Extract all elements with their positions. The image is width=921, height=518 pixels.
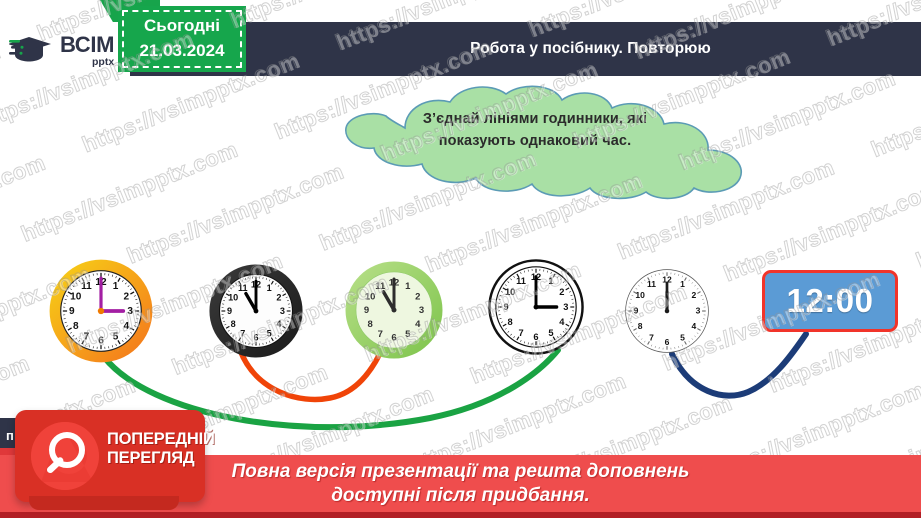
purchase-banner-line-2: доступні після придбання. <box>232 484 690 508</box>
svg-text:8: 8 <box>638 321 643 331</box>
preview-overlay-text: ПОПЕРЕДНІЙ ПЕРЕГЛЯД <box>107 430 201 468</box>
svg-text:6: 6 <box>391 333 396 344</box>
svg-text:10: 10 <box>635 290 645 300</box>
today-label: Сьогодні <box>144 14 220 39</box>
slide-canvas: https://vsimpptx.comhttps://vsimpptx.com… <box>0 0 921 518</box>
svg-text:7: 7 <box>84 331 90 342</box>
svg-text:5: 5 <box>680 333 685 343</box>
svg-text:9: 9 <box>69 306 75 317</box>
svg-text:4: 4 <box>692 321 697 331</box>
preview-line-2: ПЕРЕГЛЯД <box>107 449 201 468</box>
svg-text:4: 4 <box>123 321 129 332</box>
svg-text:6: 6 <box>533 332 538 342</box>
brand-logo: ВСІМ pptx <box>0 22 130 79</box>
clock-green: 123456789101112 <box>344 260 444 360</box>
bottom-accent-bar <box>0 512 921 518</box>
svg-text:8: 8 <box>368 319 373 330</box>
svg-text:9: 9 <box>634 306 639 316</box>
clock-black-thick: 123456789101112 <box>208 263 304 359</box>
svg-text:1: 1 <box>113 281 119 292</box>
svg-text:10: 10 <box>228 293 238 303</box>
today-date-badge: Сьогодні 21.03.2024 <box>118 6 246 72</box>
today-date: 21.03.2024 <box>139 39 224 64</box>
svg-text:9: 9 <box>364 305 369 316</box>
svg-text:9: 9 <box>227 306 232 316</box>
logo-main-text: ВСІМ <box>60 34 114 56</box>
svg-text:4: 4 <box>559 317 565 327</box>
instruction-line-1: З’єднай лініями годинники, які <box>310 108 760 130</box>
digital-clock: 12:00 <box>762 270 898 332</box>
svg-text:10: 10 <box>70 292 82 303</box>
svg-text:2: 2 <box>123 292 129 303</box>
instruction-text: З’єднай лініями годинники, які показують… <box>310 108 760 153</box>
svg-text:2: 2 <box>276 293 281 303</box>
svg-text:2: 2 <box>415 291 420 302</box>
svg-text:8: 8 <box>73 321 79 332</box>
svg-text:7: 7 <box>378 329 383 340</box>
svg-text:7: 7 <box>240 329 245 339</box>
svg-text:6: 6 <box>665 337 670 347</box>
svg-text:6: 6 <box>98 335 104 346</box>
svg-text:5: 5 <box>548 328 553 338</box>
svg-text:6: 6 <box>253 332 258 342</box>
svg-text:10: 10 <box>505 287 515 297</box>
svg-text:10: 10 <box>365 291 376 302</box>
svg-text:11: 11 <box>238 283 248 293</box>
clock-thin-outline-face: 123456789101112 <box>622 266 712 356</box>
left-stub-letter: п <box>6 428 14 443</box>
clock-orange: 123456789101112 <box>48 258 154 364</box>
preview-overlay-badge[interactable]: ПОПЕРЕДНІЙ ПЕРЕГЛЯД <box>15 410 205 502</box>
svg-text:5: 5 <box>405 329 411 340</box>
svg-text:3: 3 <box>419 305 424 316</box>
clock-thin-outline: 123456789101112 <box>622 266 712 356</box>
svg-text:3: 3 <box>280 306 285 316</box>
instruction-cloud: З’єднай лініями годинники, які показують… <box>310 80 760 205</box>
clock-black-outline-face: 123456789101112 <box>487 258 585 356</box>
svg-text:11: 11 <box>647 279 656 289</box>
svg-text:7: 7 <box>649 333 654 343</box>
svg-text:1: 1 <box>548 276 553 286</box>
purchase-banner-line-1: Повна версія презентації та решта доповн… <box>232 460 690 484</box>
clock-black-thick-face: 123456789101112 <box>208 263 304 359</box>
svg-text:11: 11 <box>516 276 526 286</box>
svg-text:8: 8 <box>508 317 513 327</box>
digital-clock-value: 12:00 <box>787 282 874 320</box>
svg-text:5: 5 <box>267 329 272 339</box>
svg-text:3: 3 <box>696 306 701 316</box>
page-title: Робота у посібнику. Повторюю <box>260 22 921 76</box>
graduation-cap-icon <box>9 33 55 69</box>
clock-orange-face: 123456789101112 <box>48 258 154 364</box>
svg-text:4: 4 <box>415 319 421 330</box>
instruction-line-2: показують однаковий час. <box>310 130 760 152</box>
svg-text:1: 1 <box>405 281 411 292</box>
svg-text:5: 5 <box>113 331 119 342</box>
svg-text:2: 2 <box>692 290 697 300</box>
clock-black-outline: 123456789101112 <box>487 258 585 356</box>
svg-text:3: 3 <box>563 302 568 312</box>
clock-green-face: 123456789101112 <box>344 260 444 360</box>
magnifier-icon <box>31 422 99 490</box>
svg-text:1: 1 <box>680 279 685 289</box>
preview-line-1: ПОПЕРЕДНІЙ <box>107 430 201 449</box>
svg-text:8: 8 <box>231 319 236 329</box>
svg-text:9: 9 <box>504 302 509 312</box>
logo-sub-text: pptx <box>60 57 114 68</box>
svg-text:3: 3 <box>127 306 133 317</box>
svg-text:11: 11 <box>81 281 92 292</box>
svg-text:2: 2 <box>559 287 564 297</box>
svg-text:7: 7 <box>518 328 523 338</box>
svg-text:1: 1 <box>267 283 272 293</box>
